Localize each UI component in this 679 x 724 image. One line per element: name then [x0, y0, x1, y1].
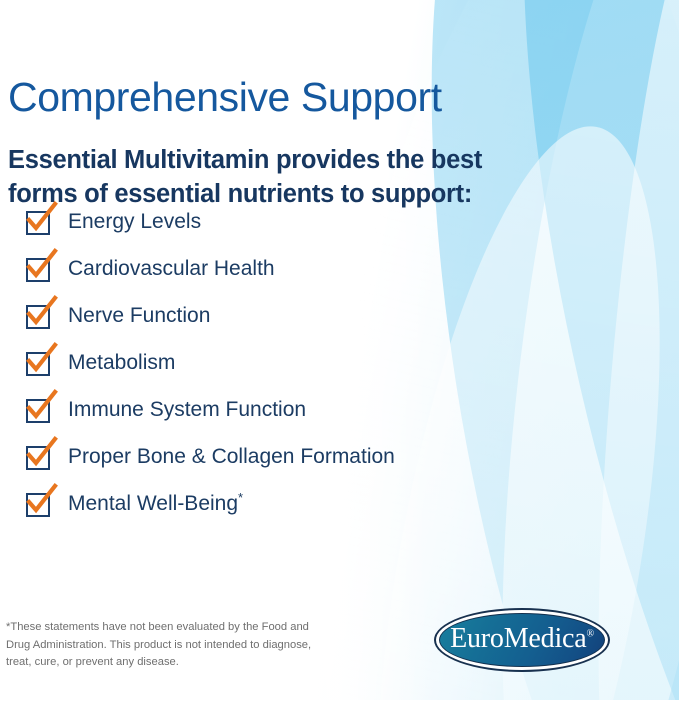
footnote-asterisk: *: [238, 490, 243, 505]
checklist-item: Energy Levels: [26, 207, 496, 254]
checklist-item: Metabolism: [26, 348, 496, 395]
check-mark-icon: [25, 486, 58, 517]
check-mark-icon: [25, 439, 58, 470]
check-mark-icon: [25, 345, 58, 376]
page-title: Comprehensive Support: [8, 74, 442, 121]
checklist-item-label: Proper Bone & Collagen Formation: [68, 442, 395, 472]
checklist-item: Cardiovascular Health: [26, 254, 496, 301]
checklist-item-label: Metabolism: [68, 348, 175, 378]
logo-ellipse: EuroMedica®: [439, 613, 605, 667]
checklist-item: Proper Bone & Collagen Formation: [26, 442, 496, 489]
benefits-checklist: Energy LevelsCardiovascular HealthNerve …: [26, 207, 496, 536]
checklist-item-label: Cardiovascular Health: [68, 254, 275, 284]
check-mark-icon: [25, 204, 58, 235]
logo-brand-name: EuroMedica: [450, 623, 586, 654]
check-mark-icon: [25, 392, 58, 423]
content-layer: Comprehensive Support Essential Multivit…: [0, 0, 679, 724]
checkbox-checked-icon: [26, 493, 50, 517]
page-subtitle: Essential Multivitamin provides the best…: [8, 143, 538, 211]
checklist-item: Mental Well-Being*: [26, 489, 496, 536]
fda-disclaimer: *These statements have not been evaluate…: [6, 619, 336, 672]
checkbox-checked-icon: [26, 446, 50, 470]
check-mark-icon: [25, 251, 58, 282]
checkbox-checked-icon: [26, 211, 50, 235]
logo-wordmark: EuroMedica®: [450, 623, 594, 655]
registered-trademark-icon: ®: [586, 629, 593, 640]
euromedica-logo: EuroMedica®: [434, 608, 610, 672]
checkbox-checked-icon: [26, 305, 50, 329]
check-mark-icon: [25, 298, 58, 329]
checklist-item-label: Energy Levels: [68, 207, 201, 237]
checklist-item: Nerve Function: [26, 301, 496, 348]
checkbox-checked-icon: [26, 399, 50, 423]
checklist-item: Immune System Function: [26, 395, 496, 442]
checklist-item-label: Mental Well-Being*: [68, 489, 243, 519]
checkbox-checked-icon: [26, 352, 50, 376]
checklist-item-label: Immune System Function: [68, 395, 306, 425]
checkbox-checked-icon: [26, 258, 50, 282]
product-infographic-page: Comprehensive Support Essential Multivit…: [0, 0, 679, 724]
checklist-item-label: Nerve Function: [68, 301, 210, 331]
